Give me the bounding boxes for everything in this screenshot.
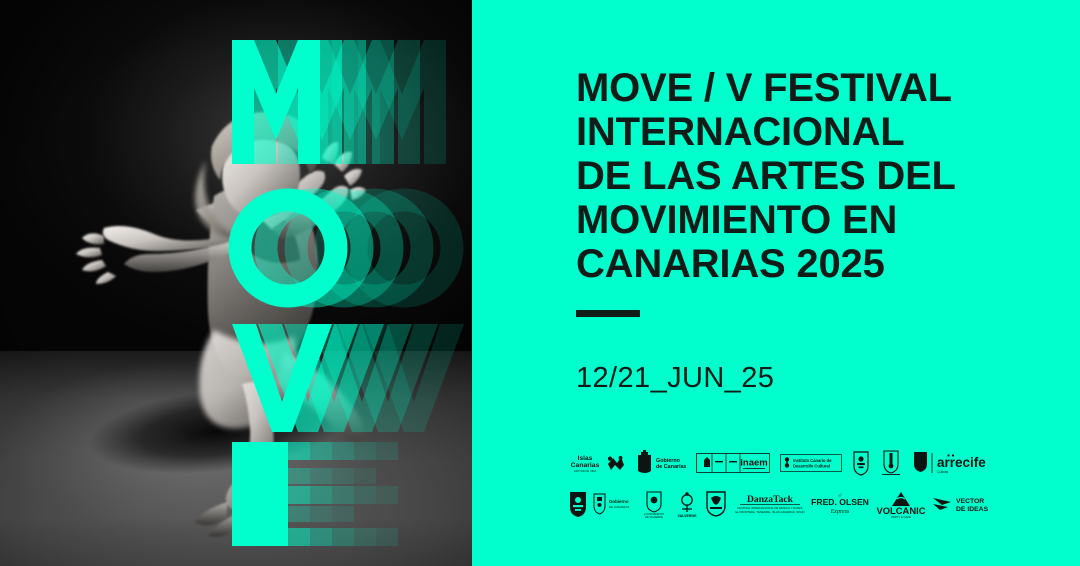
headline-divider-rule	[576, 310, 640, 317]
svg-text:Islas: Islas	[578, 455, 593, 462]
svg-text:DanzaTack: DanzaTack	[746, 494, 793, 505]
svg-text:VALVERDE: VALVERDE	[677, 514, 697, 518]
sponsor-logo-fred-olsen-express: el FRED. OLSEN Express	[811, 492, 869, 516]
svg-text:LATITUD DE VIDA: LATITUD DE VIDA	[574, 469, 597, 473]
sponsor-logo-ayuntamiento-crest: AYUNTAMIENTO DE VALVERDE	[639, 490, 669, 518]
svg-text:Gobierno: Gobierno	[609, 499, 629, 504]
svg-text:DE CANARIAS: DE CANARIAS	[609, 505, 629, 509]
sponsor-logo-islas-canarias: Islas Canarias LATITUD DE VIDA	[568, 452, 624, 474]
sponsor-logo-cabildo-crest-a	[852, 450, 870, 476]
sponsor-logo-cabildo-crest-b	[880, 449, 902, 477]
svg-text:inaem: inaem	[740, 458, 767, 469]
sponsor-logo-arrecife: arrecife Cultura	[912, 450, 988, 476]
svg-text:DE IDEAS: DE IDEAS	[956, 506, 988, 513]
svg-text:VECTOR: VECTOR	[956, 498, 984, 505]
sponsor-logo-inaem: inaem	[696, 451, 770, 475]
sponsor-logo-row-2: Gobierno DE CANARIAS AYUNTAMIENTO DE VAL…	[568, 486, 988, 522]
festival-poster: MOVE / V FESTIVAL INTERNACIONAL DE LAS A…	[0, 0, 1080, 566]
sponsor-logo-vector-de-ideas: VECTOR DE IDEAS	[932, 492, 988, 516]
sponsor-logo-volcanic: VOLCANIC PARTY & CAFE	[873, 490, 929, 518]
svg-text:PARTY & CAFE: PARTY & CAFE	[891, 515, 911, 518]
sponsor-logo-municipal-crest-b	[704, 490, 728, 518]
svg-text:FRED. OLSEN: FRED. OLSEN	[811, 497, 869, 507]
svg-text:Express: Express	[830, 509, 850, 515]
sponsor-logo-instituto-canario-desarrollo-cultural: Instituto Canario de Desarrollo Cultural	[780, 451, 842, 475]
dancer-photo-panel	[0, 0, 472, 566]
sponsor-logo-gobierno-de-canarias: Gobierno de Canarias	[634, 450, 686, 476]
info-panel: MOVE / V FESTIVAL INTERNACIONAL DE LAS A…	[472, 0, 1080, 566]
svg-text:Canarias: Canarias	[571, 462, 600, 469]
svg-text:arrecife: arrecife	[937, 455, 986, 470]
svg-text:Desarrollo Cultural: Desarrollo Cultural	[793, 464, 830, 469]
festival-dates: 12/21_JUN_25	[576, 362, 774, 395]
sponsor-logo-danzatack: DanzaTack FESTIVAL INTERNACIONAL DE MUSI…	[732, 492, 808, 516]
svg-text:EL FRONTERA, TENERIFE, ISLAS C: EL FRONTERA, TENERIFE, ISLAS CANARIAS, S…	[735, 510, 804, 514]
sponsor-logo-diputacion-crest: Gobierno DE CANARIAS	[592, 491, 636, 517]
svg-text:de Canarias: de Canarias	[656, 464, 686, 470]
svg-text:Instituto Canario de: Instituto Canario de	[793, 458, 832, 463]
photo-vignette	[0, 0, 472, 566]
sponsor-logo-row-1: Islas Canarias LATITUD DE VIDA Gobierno	[568, 446, 988, 480]
sponsor-logo-municipal-crest-a	[568, 490, 588, 518]
svg-text:Cultura: Cultura	[937, 470, 948, 474]
festival-headline: MOVE / V FESTIVAL INTERNACIONAL DE LAS A…	[576, 66, 1036, 286]
svg-text:DE VALVERDE: DE VALVERDE	[645, 515, 663, 518]
sponsor-logo-valverde: VALVERDE	[673, 490, 701, 518]
